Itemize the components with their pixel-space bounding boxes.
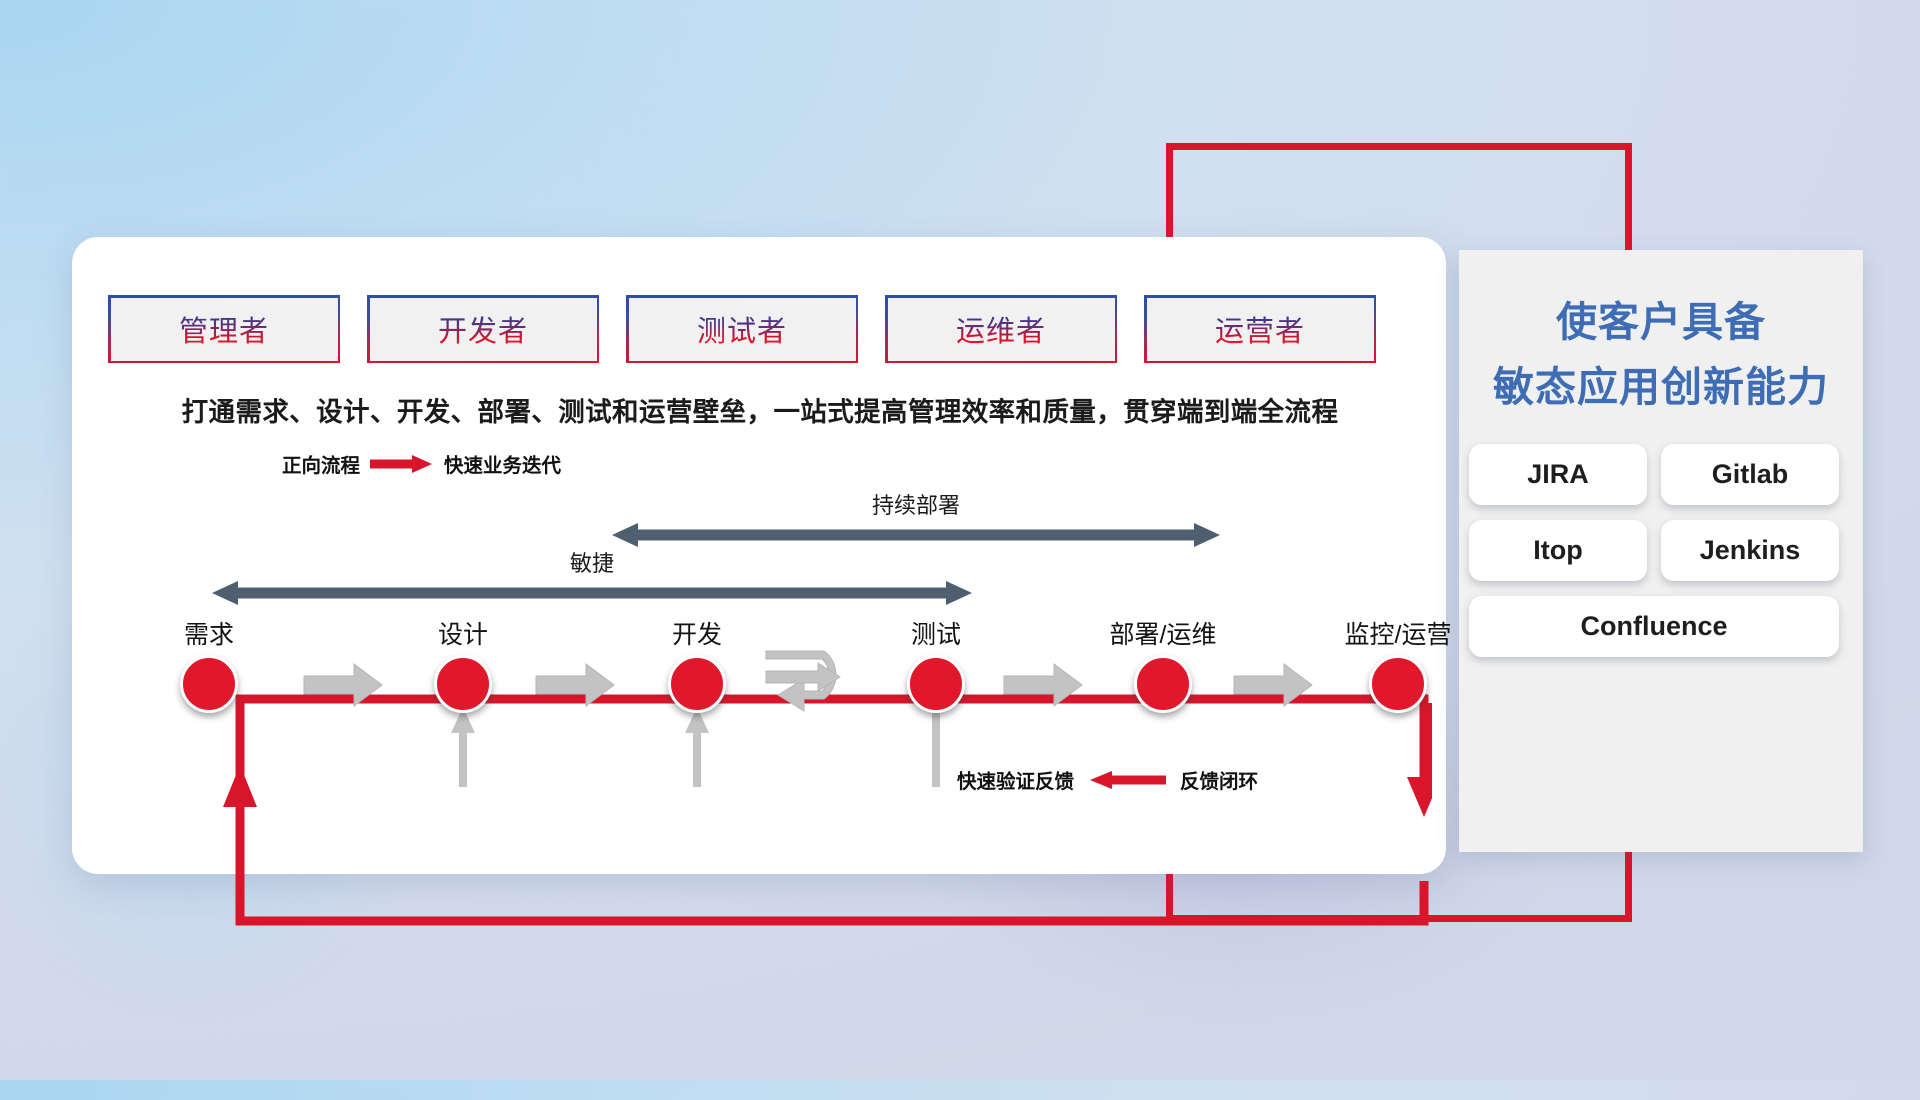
tool-pill-grid: JIRA Gitlab Itop Jenkins Confluence xyxy=(1469,444,1853,657)
node-design[interactable]: 设计 xyxy=(434,655,492,713)
node-label-development: 开发 xyxy=(672,615,722,651)
node-dot-deploy-ops xyxy=(1134,655,1192,713)
chevron-arrow-icon xyxy=(534,662,616,708)
role-label-ops: 运维者 xyxy=(956,308,1046,350)
card-description: 打通需求、设计、开发、部署、测试和运营壁垒，一站式提高管理效率和质量，贯穿端到端… xyxy=(110,390,1410,429)
node-label-deploy-ops: 部署/运维 xyxy=(1110,615,1217,651)
span-arrow-continuous-deployment: 持续部署 xyxy=(610,522,1222,548)
legend-forward-right-label: 快速业务迭代 xyxy=(444,449,561,478)
role-label-tester: 测试者 xyxy=(697,308,787,350)
tool-pill-gitlab[interactable]: Gitlab xyxy=(1661,444,1839,505)
node-label-monitor-operations: 监控/运营 xyxy=(1345,615,1452,651)
right-arrow-red-icon xyxy=(370,454,434,474)
tool-pill-itop[interactable]: Itop xyxy=(1469,520,1647,581)
node-dot-testing xyxy=(907,655,965,713)
node-monitor-operations[interactable]: 监控/运营 xyxy=(1369,655,1427,713)
role-chip-row: 管理者 开发者 测试者 运维者 运营者 xyxy=(108,295,1376,363)
node-requirements[interactable]: 需求 xyxy=(180,655,238,713)
node-dot-monitor-operations xyxy=(1369,655,1427,713)
role-label-developer: 开发者 xyxy=(438,308,528,350)
chevron-arrow-icon xyxy=(302,662,384,708)
node-dot-development xyxy=(668,655,726,713)
span-label-continuous-deployment: 持续部署 xyxy=(610,488,1222,520)
tool-pill-jenkins[interactable]: Jenkins xyxy=(1661,520,1839,581)
chevron-arrow-icon xyxy=(1002,662,1084,708)
role-chip-developer[interactable]: 开发者 xyxy=(367,295,599,363)
panel-title-line2: 敏态应用创新能力 xyxy=(1459,353,1863,413)
node-testing[interactable]: 测试 xyxy=(907,655,965,713)
panel-title-line1: 使客户具备 xyxy=(1459,288,1863,348)
role-chip-manager[interactable]: 管理者 xyxy=(108,295,340,363)
node-deploy-ops[interactable]: 部署/运维 xyxy=(1134,655,1192,713)
node-label-design: 设计 xyxy=(438,615,488,651)
chevron-arrow-icon xyxy=(1232,662,1314,708)
legend-forward-left-label: 正向流程 xyxy=(282,449,360,478)
main-diagram-card: 管理者 开发者 测试者 运维者 运营者 打通需求、设计、开发、部署、测试和运营壁… xyxy=(72,237,1446,874)
role-chip-operations[interactable]: 运营者 xyxy=(1144,295,1376,363)
role-label-operations: 运营者 xyxy=(1215,308,1305,350)
tool-pill-jira[interactable]: JIRA xyxy=(1469,444,1647,505)
role-chip-tester[interactable]: 测试者 xyxy=(626,295,858,363)
node-label-requirements: 需求 xyxy=(184,615,234,651)
tool-pill-confluence[interactable]: Confluence xyxy=(1469,596,1839,657)
value-proposition-panel: 使客户具备 敏态应用创新能力 JIRA Gitlab Itop Jenkins … xyxy=(1459,250,1863,852)
node-development[interactable]: 开发 xyxy=(668,655,726,713)
legend-forward-flow: 正向流程 快速业务迭代 xyxy=(282,449,561,478)
cycle-loop-icon xyxy=(760,641,870,727)
red-process-loop xyxy=(148,549,1432,991)
node-dot-requirements xyxy=(180,655,238,713)
node-dot-design xyxy=(434,655,492,713)
node-label-testing: 测试 xyxy=(911,615,961,651)
role-chip-ops[interactable]: 运维者 xyxy=(885,295,1117,363)
role-label-manager: 管理者 xyxy=(179,308,269,350)
double-arrow-icon xyxy=(610,522,1222,548)
